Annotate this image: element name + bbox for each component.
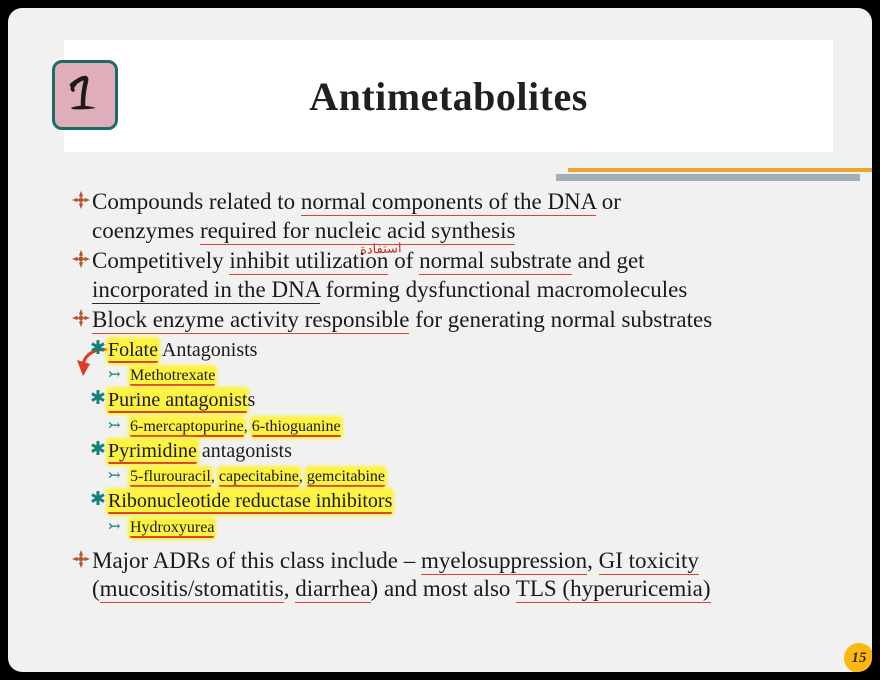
four-point-cross-bullet-icon bbox=[72, 309, 90, 327]
four-point-cross-bullet-icon bbox=[72, 250, 90, 268]
bullet-text-segment: Major ADRs of this class include – bbox=[92, 548, 421, 573]
drug-list: ↣ 6-mercaptopurine, 6-thioguanine bbox=[8, 417, 872, 436]
asterisk-bullet-icon: ✱ bbox=[90, 490, 106, 509]
slide-body: Compounds related to normal components o… bbox=[8, 188, 872, 606]
drug-name: Hydroxyurea bbox=[130, 519, 214, 538]
drug-name: Methotrexate bbox=[130, 367, 215, 386]
page-number-badge: 15 bbox=[844, 643, 872, 672]
drug-name: 6-mercaptopurine bbox=[130, 418, 244, 437]
drug-class-suffix: Antagonists bbox=[158, 339, 257, 361]
drug-list: ↣ Hydroxyurea bbox=[8, 518, 872, 537]
four-point-cross-bullet-icon bbox=[72, 550, 90, 568]
drug-name: capecitabine bbox=[219, 468, 299, 487]
bullet-text-segment: of bbox=[388, 248, 419, 273]
bullet-underlined-phrase: mucositis/stomatitis bbox=[100, 576, 284, 603]
bullet-underlined-phrase: incorporated in the DNA bbox=[92, 277, 320, 304]
bullet-text-segment: and get bbox=[572, 248, 645, 273]
drug-separator: , bbox=[244, 418, 252, 435]
drug-list: ↣ Methotrexate bbox=[8, 366, 872, 385]
asterisk-bullet-icon: ✱ bbox=[90, 440, 106, 459]
bullet-text-segment: Compounds related to bbox=[92, 189, 301, 214]
handwritten-one-icon bbox=[63, 72, 107, 118]
bullet-underlined-phrase: inhibit utilization bbox=[229, 248, 388, 275]
decorative-rule-orange bbox=[568, 168, 872, 172]
bullet-text-segment: ) and most also bbox=[371, 576, 516, 601]
drug-class-name: Ribonucleotide reductase inhibitors bbox=[108, 490, 392, 514]
drug-class-name: Pyrimidine bbox=[108, 440, 197, 464]
bullet-text-segment: ( bbox=[92, 576, 100, 601]
drug-class-heading: ✱ Pyrimidine antagonists bbox=[8, 439, 872, 463]
slide-canvas: Antimetabolites استفادة Compounds relate… bbox=[8, 8, 872, 672]
asterisk-bullet-icon: ✱ bbox=[90, 339, 106, 358]
arrow-bullet-icon: ↣ bbox=[108, 367, 121, 384]
drug-class-name: Purine antagonist bbox=[108, 389, 247, 413]
bullet-underlined-phrase: TLS (hyperuricemia) bbox=[516, 576, 711, 603]
arrow-bullet-icon: ↣ bbox=[108, 418, 121, 435]
bullet-text-segment: coenzymes bbox=[92, 218, 200, 243]
bullet-underlined-phrase: normal components of the DNA bbox=[301, 189, 596, 216]
bullet-underlined-phrase: required for nucleic acid synthesis bbox=[200, 218, 516, 245]
bullet-underlined-phrase: GI toxicity bbox=[599, 548, 699, 575]
bullet-underlined-phrase: myelosuppression bbox=[421, 548, 587, 575]
drug-list: ↣ 5-flurouracil, capecitabine, gemcitabi… bbox=[8, 467, 872, 486]
bullet-text-segment: Competitively bbox=[92, 248, 229, 273]
bullet-text-segment: for generating normal substrates bbox=[409, 307, 712, 332]
drug-class-heading: ✱ Ribonucleotide reductase inhibitors bbox=[8, 489, 872, 513]
bullet-item: Block enzyme activity responsible for ge… bbox=[8, 306, 872, 335]
bullet-text-segment: forming dysfunctional macromolecules bbox=[320, 277, 687, 302]
drug-class-suffix: s bbox=[247, 389, 255, 411]
decorative-rule-gray bbox=[556, 174, 860, 181]
bullet-item: Major ADRs of this class include – myelo… bbox=[8, 547, 872, 604]
drug-name: 5-flurouracil bbox=[130, 468, 211, 487]
arrow-bullet-icon: ↣ bbox=[108, 519, 121, 536]
drug-separator: , bbox=[299, 468, 307, 485]
drug-separator: , bbox=[211, 468, 219, 485]
bullet-item: Competitively inhibit utilization of nor… bbox=[8, 247, 872, 304]
drug-class-suffix: antagonists bbox=[197, 440, 292, 462]
drug-class-heading: ✱ Purine antagonists bbox=[8, 388, 872, 412]
bullet-text-segment: or bbox=[596, 189, 621, 214]
page-title: Antimetabolites bbox=[64, 40, 833, 152]
bullet-text-segment: , bbox=[284, 576, 296, 601]
drug-class-heading: ✱ Folate Antagonists bbox=[8, 338, 872, 362]
arrow-bullet-icon: ↣ bbox=[108, 468, 121, 485]
bullet-text-segment: , bbox=[587, 548, 599, 573]
drug-name: gemcitabine bbox=[307, 468, 385, 487]
bullet-underlined-phrase: normal substrate bbox=[419, 248, 572, 275]
drug-name: 6-thioguanine bbox=[252, 418, 341, 437]
bullet-underlined-phrase: Block enzyme activity responsible bbox=[92, 307, 409, 334]
four-point-cross-bullet-icon bbox=[72, 191, 90, 209]
bullet-item: Compounds related to normal components o… bbox=[8, 188, 872, 245]
slide-number-badge bbox=[52, 60, 118, 130]
asterisk-bullet-icon: ✱ bbox=[90, 389, 106, 408]
drug-class-name: Folate bbox=[108, 339, 158, 363]
bullet-underlined-phrase: diarrhea bbox=[295, 576, 370, 603]
